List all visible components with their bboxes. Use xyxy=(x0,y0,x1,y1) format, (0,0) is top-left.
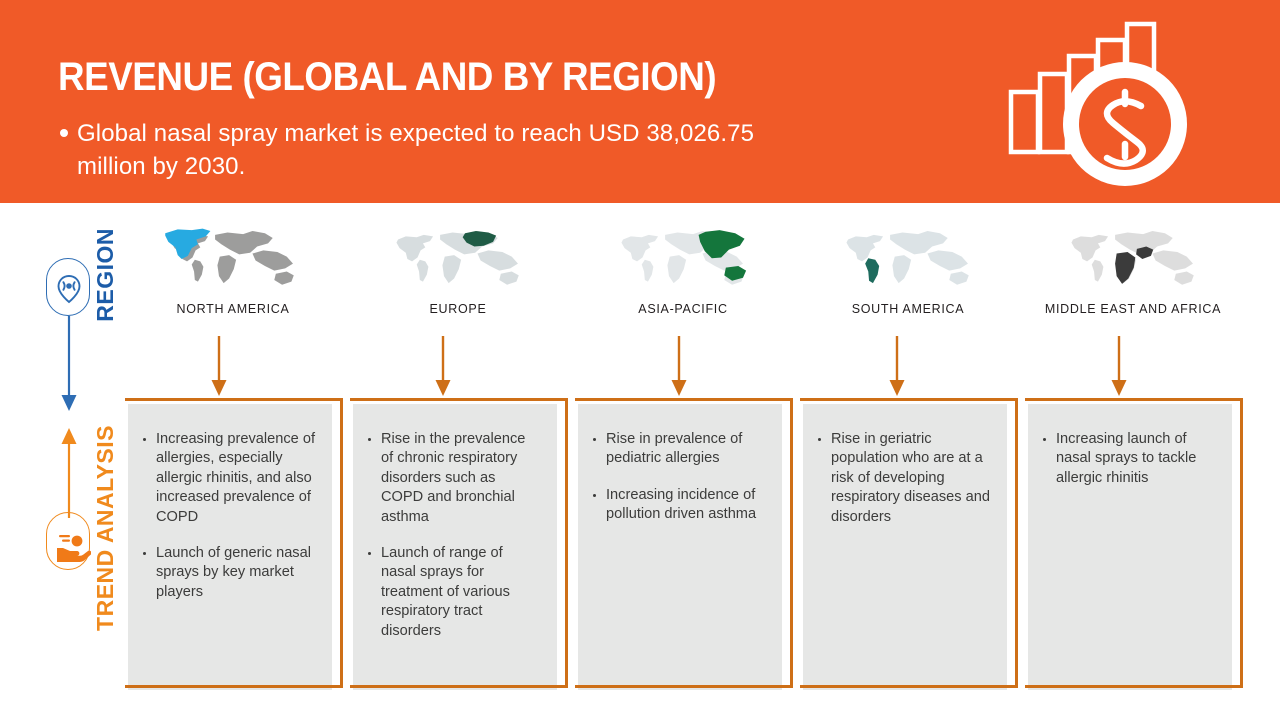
trend-item: Increasing launch of nasal sprays to tac… xyxy=(1042,430,1216,488)
trend-list: Rise in geriatric population who are at … xyxy=(817,430,991,527)
trend-box-2: Rise in the prevalence of chronic respir… xyxy=(353,404,557,690)
map-wrapper xyxy=(345,222,571,296)
region-label: SOUTH AMERICA xyxy=(795,302,1021,316)
region-label: NORTH AMERICA xyxy=(120,302,346,316)
column-down-arrow-icon-3 xyxy=(669,336,689,398)
trend-item: Increasing incidence of pollution driven… xyxy=(592,486,766,525)
world-map-middle-east-africa-icon xyxy=(1059,222,1207,296)
trend-box-1: Increasing prevalence of allergies, espe… xyxy=(128,404,332,690)
header-subtitle: Global nasal spray market is expected to… xyxy=(77,118,820,183)
map-wrapper xyxy=(570,222,796,296)
dollar-bar-chart-icon xyxy=(995,18,1200,196)
map-wrapper xyxy=(1020,222,1246,296)
trend-item: Rise in prevalence of pediatric allergie… xyxy=(592,430,766,469)
trend-item: Rise in the prevalence of chronic respir… xyxy=(367,430,541,527)
bullet-dot-icon xyxy=(60,129,68,137)
trend-box-3: Rise in prevalence of pediatric allergie… xyxy=(578,404,782,690)
region-column-2: EUROPE xyxy=(345,222,571,327)
column-down-arrow-icon-2 xyxy=(433,336,453,398)
region-label: MIDDLE EAST AND AFRICA xyxy=(1020,302,1246,316)
region-down-arrow-icon xyxy=(58,316,80,414)
trend-list: Rise in prevalence of pediatric allergie… xyxy=(592,430,766,525)
trend-icon-badge xyxy=(46,512,90,570)
trend-list: Increasing prevalence of allergies, espe… xyxy=(142,430,316,602)
trend-item: Rise in geriatric population who are at … xyxy=(817,430,991,527)
region-column-3: ASIA-PACIFIC xyxy=(570,222,796,327)
region-label: ASIA-PACIFIC xyxy=(570,302,796,316)
column-down-arrow-icon-1 xyxy=(209,336,229,398)
trend-item: Launch of generic nasal sprays by key ma… xyxy=(142,544,316,602)
rail-label-region: REGION xyxy=(92,228,119,322)
world-map-europe-icon xyxy=(384,222,532,296)
column-down-arrow-icon-5 xyxy=(1109,336,1129,398)
map-wrapper xyxy=(120,222,346,296)
region-column-5: MIDDLE EAST AND AFRICA xyxy=(1020,222,1246,327)
region-icon-badge xyxy=(46,258,90,316)
trend-box-5: Increasing launch of nasal sprays to tac… xyxy=(1028,404,1232,690)
trend-up-arrow-icon xyxy=(58,428,80,518)
header-bullet: Global nasal spray market is expected to… xyxy=(60,118,820,183)
trend-list: Rise in the prevalence of chronic respir… xyxy=(367,430,541,641)
world-map-south-america-icon xyxy=(834,222,982,296)
world-map-asia-pacific-icon xyxy=(609,222,757,296)
header-banner: REVENUE (GLOBAL AND BY REGION) Global na… xyxy=(0,0,1280,203)
world-map-north-america-icon xyxy=(159,222,307,296)
region-column-4: SOUTH AMERICA xyxy=(795,222,1021,327)
column-down-arrow-icon-4 xyxy=(887,336,907,398)
trend-item: Launch of range of nasal sprays for trea… xyxy=(367,544,541,641)
region-column-1: NORTH AMERICA xyxy=(120,222,346,327)
trend-list: Increasing launch of nasal sprays to tac… xyxy=(1042,430,1216,488)
page-title: REVENUE (GLOBAL AND BY REGION) xyxy=(58,57,716,97)
trend-box-4: Rise in geriatric population who are at … xyxy=(803,404,1007,690)
trend-item: Increasing prevalence of allergies, espe… xyxy=(142,430,316,527)
rail-label-trend-analysis: TREND ANALYSIS xyxy=(92,425,119,631)
region-label: EUROPE xyxy=(345,302,571,316)
location-pin-icon xyxy=(47,259,91,317)
map-wrapper xyxy=(795,222,1021,296)
hand-care-icon xyxy=(47,513,91,571)
